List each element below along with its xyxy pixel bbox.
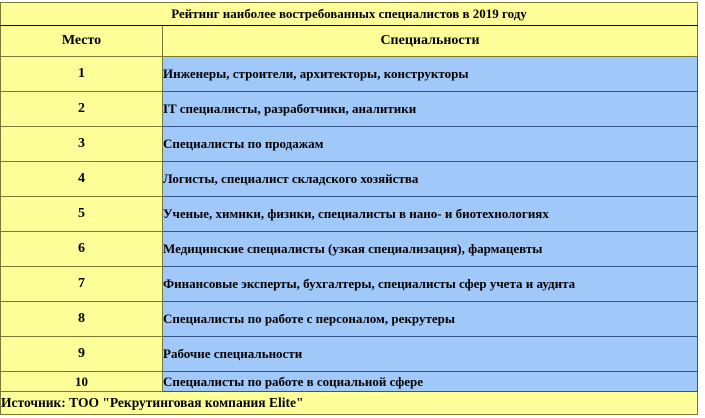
source-note: Источник: ТОО "Рекрутинговая компания El… <box>1 392 698 415</box>
cell-specialty: IT специалисты, разработчики, аналитики <box>163 92 698 127</box>
cell-rank: 3 <box>1 127 163 162</box>
cell-specialty: Ученые, химики, физики, специалисты в на… <box>163 197 698 232</box>
rating-table-container: Рейтинг наиболее востребованных специали… <box>0 2 697 415</box>
cell-rank: 8 <box>1 302 163 337</box>
table-source-row: Источник: ТОО "Рекрутинговая компания El… <box>1 392 698 415</box>
cell-specialty: Инженеры, строители, архитекторы, констр… <box>163 57 698 92</box>
table-row: 2 IT специалисты, разработчики, аналитик… <box>1 92 698 127</box>
cell-rank: 2 <box>1 92 163 127</box>
cell-rank: 6 <box>1 232 163 267</box>
cell-specialty: Финансовые эксперты, бухгалтеры, специал… <box>163 267 698 302</box>
table-title-row: Рейтинг наиболее востребованных специали… <box>1 3 698 26</box>
cell-rank: 5 <box>1 197 163 232</box>
cell-rank: 10 <box>1 372 163 392</box>
cell-rank: 4 <box>1 162 163 197</box>
table-row: 1 Инженеры, строители, архитекторы, конс… <box>1 57 698 92</box>
cell-specialty: Специалисты по работе с персоналом, рекр… <box>163 302 698 337</box>
cell-rank: 7 <box>1 267 163 302</box>
table-header-row: Место Специальности <box>1 26 698 57</box>
cell-specialty: Специалисты по работе в социальной сфере <box>163 372 698 392</box>
table-row: 8 Специалисты по работе с персоналом, ре… <box>1 302 698 337</box>
cell-specialty: Рабочие специальности <box>163 337 698 372</box>
table-title: Рейтинг наиболее востребованных специали… <box>1 3 698 26</box>
cell-specialty: Специалисты по продажам <box>163 127 698 162</box>
cell-specialty: Медицинские специалисты (узкая специализ… <box>163 232 698 267</box>
column-header-rank: Место <box>1 26 163 57</box>
table-row: 5 Ученые, химики, физики, специалисты в … <box>1 197 698 232</box>
table-row: 9 Рабочие специальности <box>1 337 698 372</box>
table-row: 4 Логисты, специалист складского хозяйст… <box>1 162 698 197</box>
cell-rank: 9 <box>1 337 163 372</box>
cell-rank: 1 <box>1 57 163 92</box>
column-header-specialty: Специальности <box>163 26 698 57</box>
rating-table: Рейтинг наиболее востребованных специали… <box>0 2 698 415</box>
table-row: 3 Специалисты по продажам <box>1 127 698 162</box>
cell-specialty: Логисты, специалист складского хозяйства <box>163 162 698 197</box>
table-row: 6 Медицинские специалисты (узкая специал… <box>1 232 698 267</box>
table-row: 10 Специалисты по работе в социальной сф… <box>1 372 698 392</box>
table-row: 7 Финансовые эксперты, бухгалтеры, специ… <box>1 267 698 302</box>
